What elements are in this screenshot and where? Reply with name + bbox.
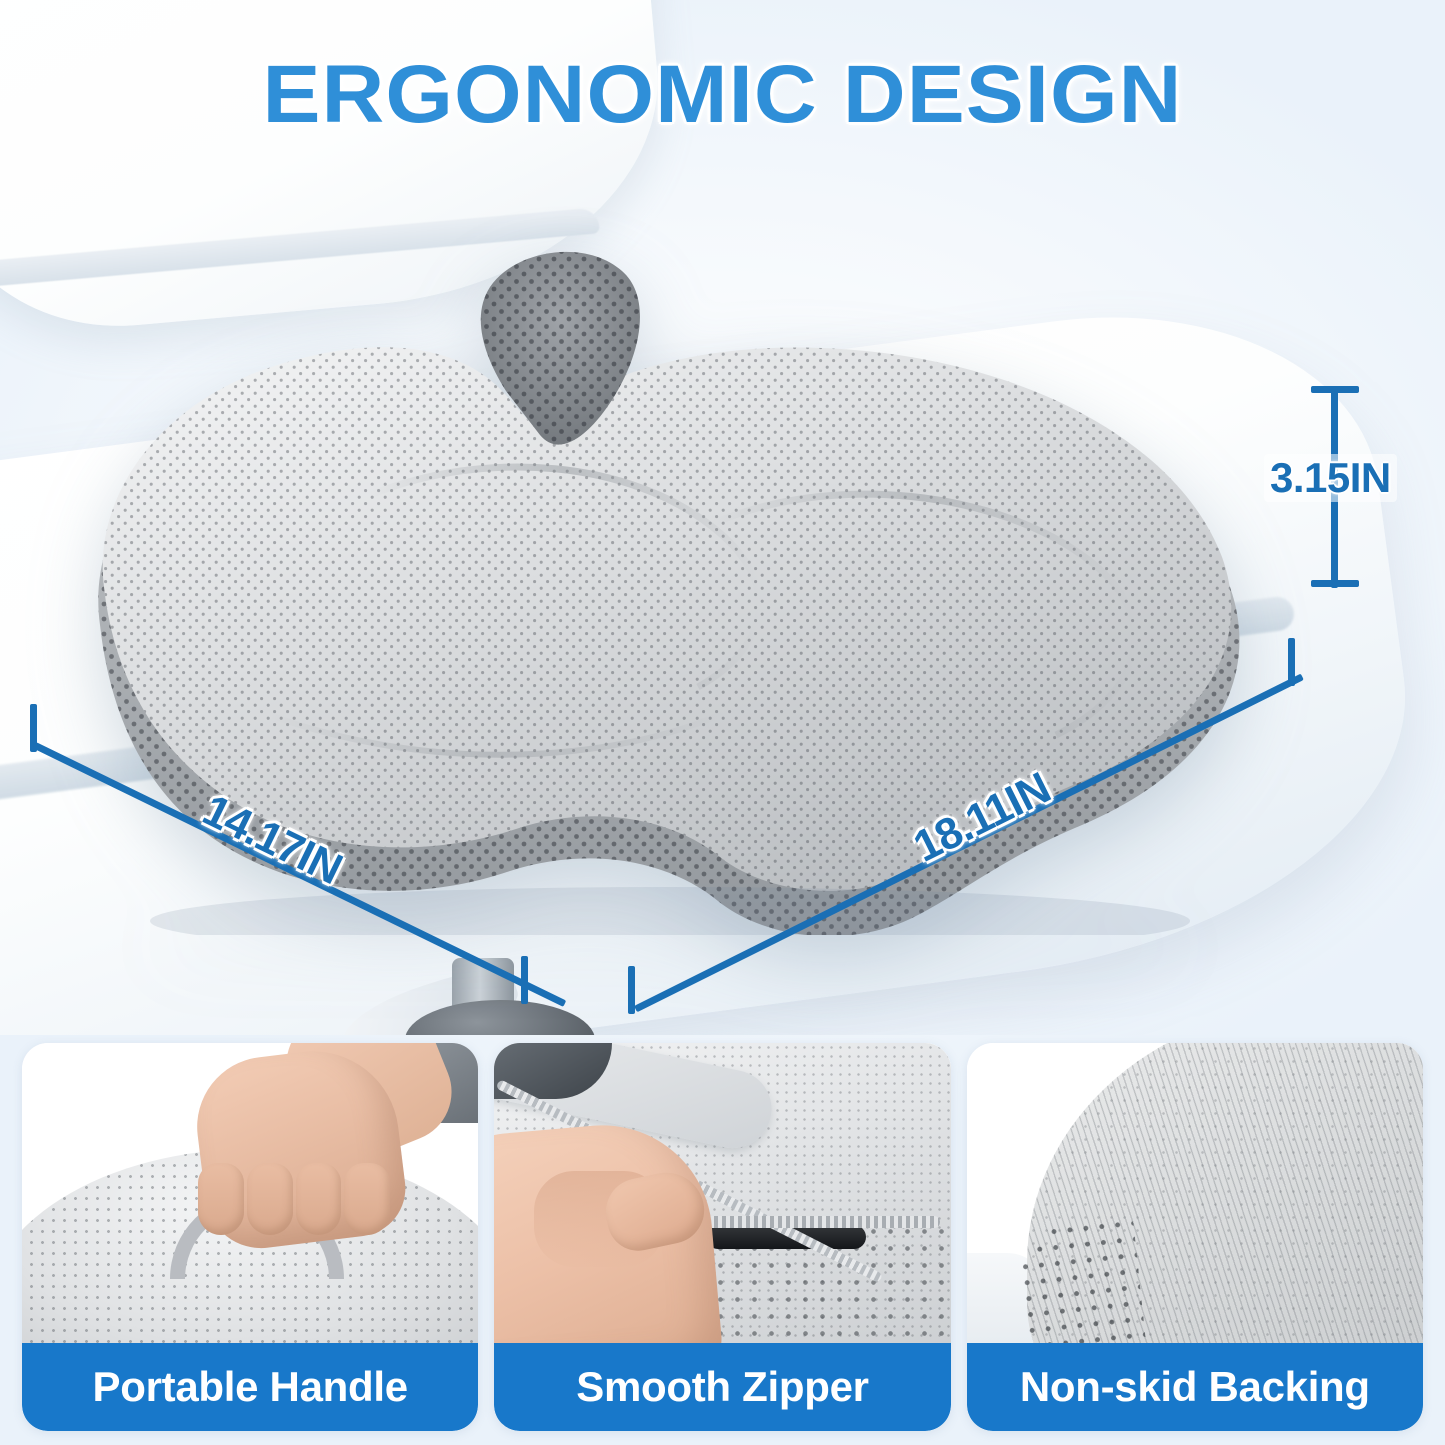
feature-panel-non-skid-backing[interactable]: Non-skid Backing [967, 1043, 1423, 1431]
dimension-cap-bottom [1311, 580, 1359, 587]
feature-label-smooth-zipper: Smooth Zipper [494, 1343, 950, 1431]
dimension-tick-end [1288, 638, 1295, 686]
page-title: ERGONOMIC DESIGN [0, 48, 1445, 142]
zipper-teeth-lower [690, 1216, 940, 1228]
feature-panel-portable-handle[interactable]: Portable Handle [22, 1043, 478, 1431]
dimension-height: 3.15IN [1286, 382, 1436, 592]
dimension-height-label: 3.15IN [1264, 454, 1397, 502]
feature-label-non-skid-backing: Non-skid Backing [967, 1343, 1423, 1431]
feature-panel-smooth-zipper[interactable]: Smooth Zipper [494, 1043, 950, 1431]
infographic-page: 3.15IN 14.17IN 18.11IN ERGONOMIC DESIGN [0, 0, 1445, 1445]
feature-panel-row: Portable Handle Smooth Zipper [0, 1043, 1445, 1445]
feature-label-portable-handle: Portable Handle [22, 1343, 478, 1431]
fingers [198, 1163, 390, 1235]
dimension-tick-end [521, 956, 528, 1004]
hero-product-scene: 3.15IN 14.17IN 18.11IN ERGONOMIC DESIGN [0, 0, 1445, 1035]
